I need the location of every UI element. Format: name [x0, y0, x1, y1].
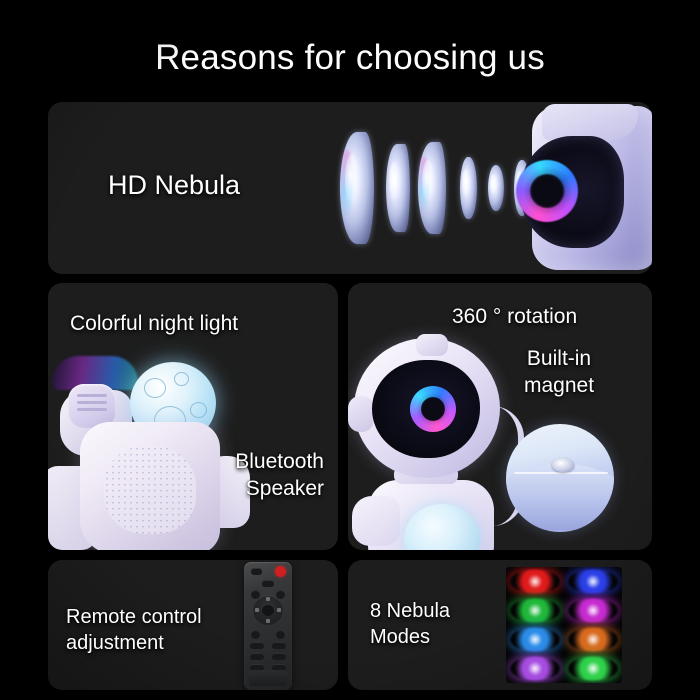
panel-hd-nebula: HD Nebula	[48, 102, 652, 274]
speaker-grille-icon	[104, 446, 196, 534]
remote-ok-button	[262, 604, 274, 616]
nebula-mode-5	[506, 625, 564, 654]
remote-button-f	[272, 653, 286, 660]
remote-button-a	[251, 630, 260, 639]
nebula-grid-icon	[506, 567, 622, 683]
panel-remote-control: Remote control adjustment	[48, 560, 338, 690]
remote-button-menu	[262, 580, 274, 587]
hd-nebula-label: HD Nebula	[108, 168, 240, 202]
nebula-mode-3	[506, 596, 564, 625]
magnet-dot	[552, 458, 574, 472]
remote-button-e	[250, 653, 264, 660]
lens-element-3	[418, 142, 446, 234]
remote-button-c	[250, 642, 264, 649]
panel-rotation: 360 ° rotation Built-in magnet	[348, 283, 652, 550]
projector-lens-icon	[410, 386, 456, 432]
panel-nebula-modes: 8 Nebula Modes	[348, 560, 652, 690]
remote-control-label: Remote control adjustment	[66, 604, 202, 656]
lens-element-1	[340, 132, 374, 244]
panel-night-light: Colorful night light Bluetooth Speaker	[48, 283, 338, 550]
remote-dpad	[253, 595, 283, 625]
nebula-mode-8	[564, 654, 622, 683]
nebula-mode-7	[506, 654, 564, 683]
astronaut-speaker-icon	[48, 356, 250, 550]
remote-footer	[249, 670, 287, 686]
remote-button-d	[272, 642, 286, 649]
nebula-mode-6	[564, 625, 622, 654]
nebula-mode-4	[564, 596, 622, 625]
speaker-housing	[80, 422, 220, 550]
astronaut-arm	[352, 496, 400, 546]
magnet-seam	[514, 472, 608, 474]
projector-lens-icon	[516, 160, 578, 222]
remote-power-button	[275, 566, 286, 577]
helmet-ear	[348, 396, 374, 432]
astronaut-helmet	[354, 338, 500, 478]
helmet-knob	[416, 334, 448, 356]
infographic-page: Reasons for choosing us HD Nebula Colorf…	[0, 0, 700, 700]
remote-button-source	[251, 568, 262, 575]
page-title: Reasons for choosing us	[0, 36, 700, 80]
lens-element-2	[386, 144, 410, 232]
projector-head-icon	[498, 102, 652, 274]
magnet-base-icon	[506, 424, 614, 532]
nebula-modes-label: 8 Nebula Modes	[370, 598, 450, 650]
lens-element-4	[460, 157, 477, 219]
remote-control-icon	[244, 562, 292, 690]
nebula-mode-2	[564, 567, 622, 596]
bluetooth-speaker-label: Bluetooth Speaker	[235, 448, 324, 502]
visor	[520, 136, 624, 248]
built-in-magnet-label: Built-in magnet	[524, 345, 594, 399]
rotation-label: 360 ° rotation	[452, 303, 577, 330]
night-light-label: Colorful night light	[70, 310, 238, 337]
helmet-visor	[372, 360, 480, 458]
remote-button-b	[276, 630, 285, 639]
head-top	[542, 104, 638, 140]
nebula-mode-1	[506, 567, 564, 596]
